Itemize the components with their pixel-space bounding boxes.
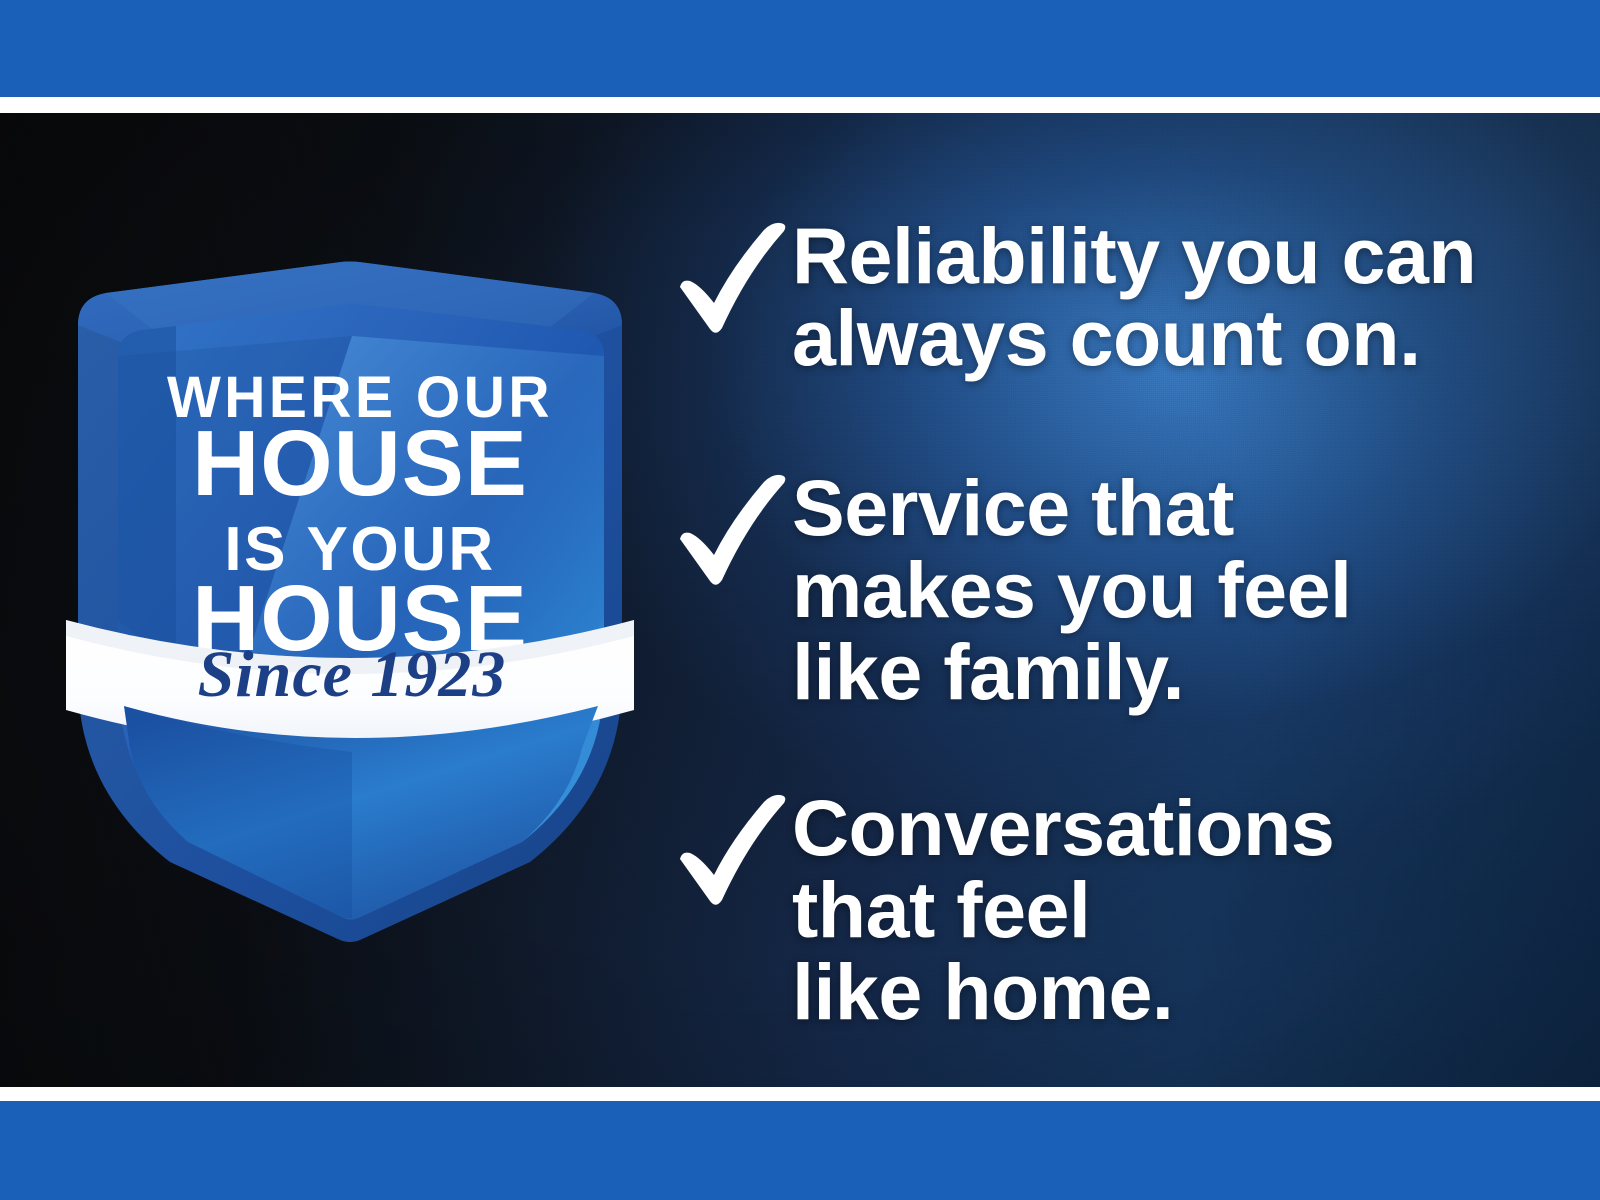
checklist-item-text: Reliability you can always count on. — [792, 213, 1476, 379]
checkmark-icon — [660, 785, 792, 907]
shield-logo: WHERE OUR HOUSE IS YOUR HOUSE Since 1923 — [60, 150, 640, 970]
ribbon-since-text: Since 1923 — [198, 638, 507, 711]
checklist-item: Conversations that feel like home. — [660, 785, 1560, 1032]
checklist-item: Reliability you can always count on. — [660, 213, 1560, 379]
checklist-item: Service that makes you feel like family. — [660, 465, 1560, 712]
shield-line-2: HOUSE — [192, 411, 528, 515]
benefits-checklist: Reliability you can always count on. Ser… — [660, 113, 1560, 1087]
checkmark-icon — [660, 213, 792, 335]
top-white-divider — [0, 97, 1600, 113]
bottom-brand-bar — [0, 1101, 1600, 1200]
checkmark-icon — [660, 465, 792, 587]
bottom-white-divider — [0, 1087, 1600, 1101]
promo-graphic: WHERE OUR HOUSE IS YOUR HOUSE Since 1923… — [0, 0, 1600, 1200]
top-brand-bar — [0, 0, 1600, 97]
checklist-item-text: Conversations that feel like home. — [792, 785, 1334, 1032]
checklist-item-text: Service that makes you feel like family. — [792, 465, 1351, 712]
